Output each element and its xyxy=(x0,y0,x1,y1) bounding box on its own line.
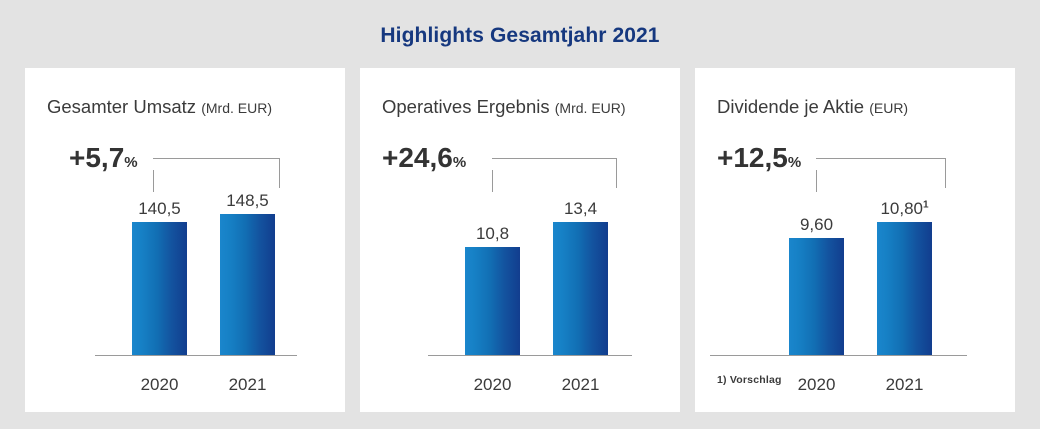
panel-heading-unit: (Mrd. EUR) xyxy=(555,100,626,116)
bar-2020[interactable] xyxy=(789,238,844,355)
panel-gesamter-umsatz: Gesamter Umsatz (Mrd. EUR) +5,7% 140,5 2… xyxy=(25,68,345,412)
bar-2021[interactable] xyxy=(220,214,275,355)
bar-value-2021: 13,4 xyxy=(531,199,630,219)
bar-value-2021: 10,801 xyxy=(855,199,954,219)
axis-baseline xyxy=(710,355,967,356)
panel-operatives-ergebnis: Operatives Ergebnis (Mrd. EUR) +24,6% 10… xyxy=(360,68,680,412)
panel-heading: Gesamter Umsatz (Mrd. EUR) xyxy=(47,96,335,118)
panel-heading-text: Operatives Ergebnis xyxy=(382,96,550,117)
panel-heading-unit: (Mrd. EUR) xyxy=(201,100,272,116)
panel-heading-unit: (EUR) xyxy=(869,100,908,116)
axis-baseline xyxy=(428,355,632,356)
bar-2020[interactable] xyxy=(132,222,187,355)
bar-value-2021: 148,5 xyxy=(198,191,297,211)
bar-chart: 9,60 2020 10,801 2021 xyxy=(695,122,1015,412)
bar-2021[interactable] xyxy=(877,222,932,355)
slide-canvas: Highlights Gesamtjahr 2021 Gesamter Umsa… xyxy=(0,0,1040,429)
bar-label-2020: 2020 xyxy=(110,375,209,395)
panel-row: Gesamter Umsatz (Mrd. EUR) +5,7% 140,5 2… xyxy=(25,68,1015,412)
panel-dividende-je-aktie: Dividende je Aktie (EUR) +12,5% 9,60 202… xyxy=(695,68,1015,412)
bar-value-2020: 140,5 xyxy=(110,199,209,219)
bar-chart: 10,8 2020 13,4 2021 xyxy=(360,122,680,412)
bar-label-2020: 2020 xyxy=(767,375,866,395)
panel-heading: Operatives Ergebnis (Mrd. EUR) xyxy=(382,96,670,118)
bar-value-2020: 9,60 xyxy=(767,215,866,235)
bar-label-2021: 2021 xyxy=(198,375,297,395)
bar-2020[interactable] xyxy=(465,247,520,355)
panel-footnote: 1) Vorschlag xyxy=(717,374,782,386)
axis-baseline xyxy=(95,355,297,356)
bar-label-2020: 2020 xyxy=(443,375,542,395)
bar-label-2021: 2021 xyxy=(855,375,954,395)
bar-value-2020: 10,8 xyxy=(443,224,542,244)
panel-heading: Dividende je Aktie (EUR) xyxy=(717,96,1005,118)
bar-label-2021: 2021 xyxy=(531,375,630,395)
bar-chart: 140,5 2020 148,5 2021 xyxy=(25,122,345,412)
panel-heading-text: Gesamter Umsatz xyxy=(47,96,196,117)
footnote-marker: 1 xyxy=(923,199,929,210)
page-title: Highlights Gesamtjahr 2021 xyxy=(0,24,1040,48)
panel-heading-text: Dividende je Aktie xyxy=(717,96,864,117)
bar-2021[interactable] xyxy=(553,222,608,355)
